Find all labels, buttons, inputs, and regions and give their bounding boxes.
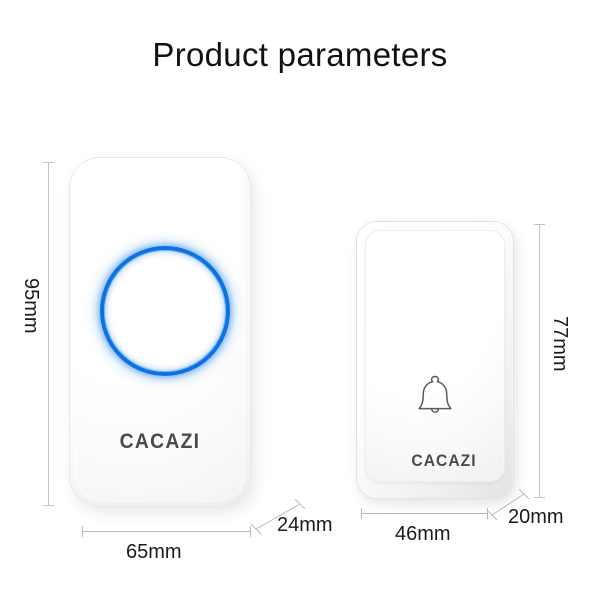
receiver-height-label: 95mm <box>19 278 42 334</box>
receiver-brand-label: CACAZI <box>77 430 243 454</box>
receiver-height-tick-bottom <box>43 505 54 506</box>
receiver-height-tick-top <box>43 162 54 163</box>
receiver-height-dimension-line <box>48 162 49 505</box>
product-parameters-diagram: Product parameters CACAZI 95mm 65mm 24mm <box>0 0 600 600</box>
receiver-width-tick-left <box>82 526 83 537</box>
bell-icon <box>366 369 504 425</box>
product-transmitter-body: CACAZI <box>357 222 513 498</box>
led-ring-icon <box>100 246 230 376</box>
product-receiver-body: CACAZI <box>70 158 250 506</box>
transmitter-width-dimension-line <box>361 513 487 514</box>
page-title: Product parameters <box>0 36 600 74</box>
transmitter-height-label: 77mm <box>548 316 571 372</box>
transmitter-button-face[interactable]: CACAZI <box>366 231 504 481</box>
transmitter-width-tick-left <box>361 508 362 519</box>
transmitter-brand-label: CACAZI <box>381 451 508 471</box>
receiver-width-dimension-line <box>82 531 250 532</box>
led-ring-inner-highlight <box>104 250 226 372</box>
receiver-depth-label: 24mm <box>277 514 333 537</box>
receiver-width-label: 65mm <box>126 541 182 564</box>
transmitter-height-dimension-line <box>539 224 540 497</box>
transmitter-height-tick-top <box>534 224 545 225</box>
transmitter-width-label: 46mm <box>395 523 451 546</box>
transmitter-depth-label: 20mm <box>508 506 564 529</box>
transmitter-height-tick-bottom <box>534 497 545 498</box>
